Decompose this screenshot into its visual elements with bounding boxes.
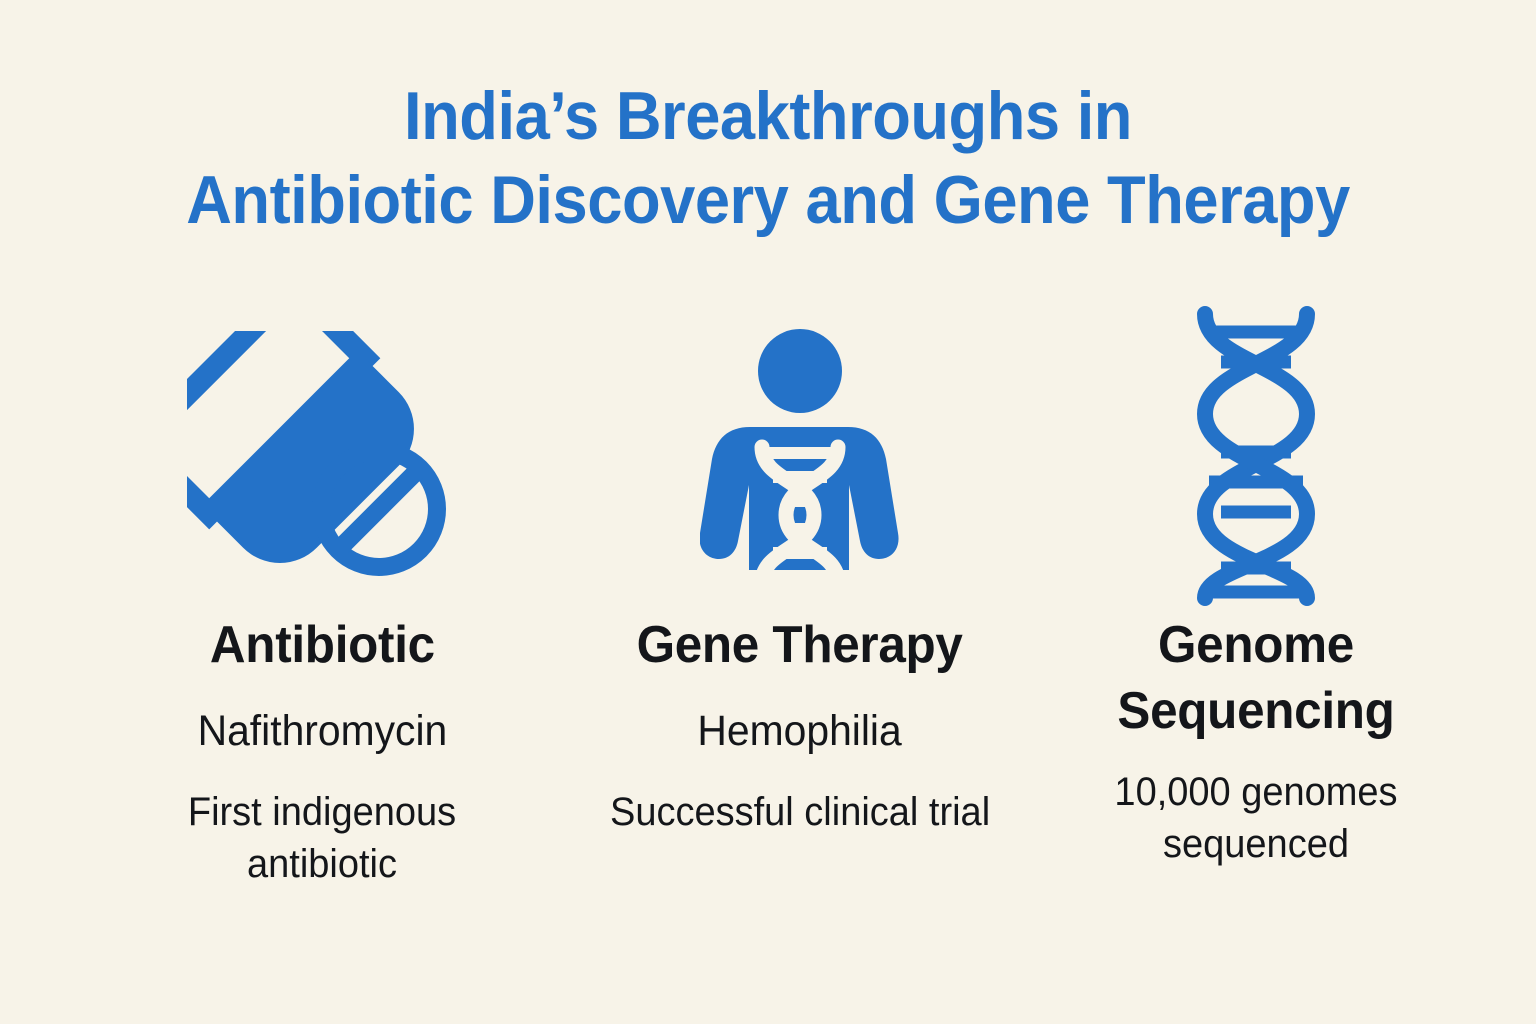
infographic-poster: India’s Breakthroughs in Antibiotic Disc… [0,0,1536,1024]
card-title: Genome Sequencing [1033,612,1480,744]
dna-helix-icon [1181,300,1331,612]
card-title: Antibiotic [210,612,435,678]
breakthrough-columns: Antibiotic Nafithromycin First indigenou… [0,300,1536,940]
card-subtitle: Nafithromycin [197,704,447,758]
card-subtitle: Hemophilia [698,704,902,758]
card-description: 10,000 genomes sequenced [1057,766,1456,870]
title-line-1: India’s Breakthroughs in [91,74,1445,158]
card-description: Successful clinical trial [610,786,990,838]
breakthrough-card-genome-sequencing: Genome Sequencing 10,000 genomes sequenc… [1021,300,1491,870]
title-line-2: Antibiotic Discovery and Gene Therapy [91,158,1445,242]
breakthrough-card-gene-therapy: Gene Therapy Hemophilia Successful clini… [565,300,1035,838]
card-description: First indigenous antibiotic [123,786,522,890]
page-title: India’s Breakthroughs in Antibiotic Disc… [0,74,1536,242]
breakthrough-card-antibiotic: Antibiotic Nafithromycin First indigenou… [87,300,557,890]
card-title: Gene Therapy [637,612,963,678]
person-dna-icon [700,300,900,612]
pill-capsule-icon [187,300,457,612]
